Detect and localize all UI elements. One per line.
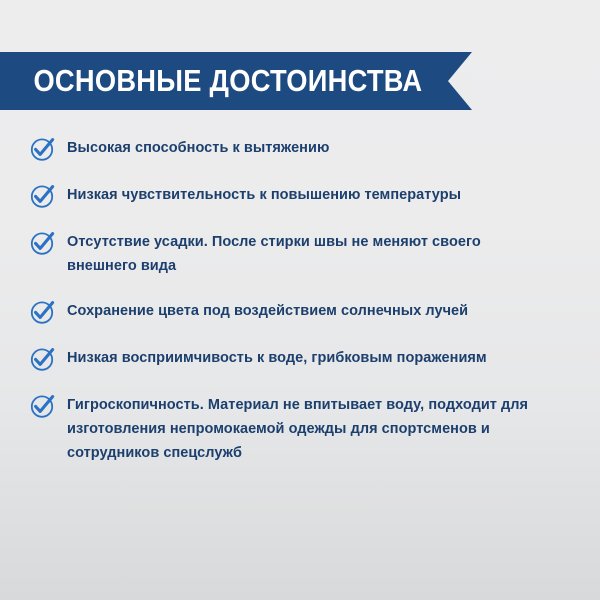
check-circle-icon: [30, 136, 56, 162]
benefits-list: Высокая способность к вытяжению Низкая ч…: [0, 136, 600, 465]
check-circle-icon: [30, 346, 56, 372]
list-item-label: Высокая способность к вытяжению: [67, 136, 329, 160]
check-circle-icon: [30, 230, 56, 256]
list-item-label: Низкая восприимчивость к воде, грибковым…: [67, 346, 487, 370]
list-item-label: Гигроскопичность. Материал не впитывает …: [67, 393, 537, 465]
list-item: Высокая способность к вытяжению: [0, 136, 600, 162]
list-item: Отсутствие усадки. После стирки швы не м…: [0, 230, 600, 278]
page-title: ОСНОВНЫЕ ДОСТОИНСТВА: [0, 52, 422, 110]
list-item: Сохранение цвета под воздействием солнеч…: [0, 299, 600, 325]
list-item: Гигроскопичность. Материал не впитывает …: [0, 393, 600, 465]
list-item-label: Сохранение цвета под воздействием солнеч…: [67, 299, 468, 323]
list-item-label: Низкая чувствительность к повышению темп…: [67, 183, 461, 207]
benefits-poster: ОСНОВНЫЕ ДОСТОИНСТВА Высокая способность…: [0, 0, 600, 600]
header-ribbon: ОСНОВНЫЕ ДОСТОИНСТВА: [0, 52, 472, 110]
check-circle-icon: [30, 299, 56, 325]
ribbon-notch-shape: [448, 52, 472, 110]
check-circle-icon: [30, 393, 56, 419]
list-item: Низкая чувствительность к повышению темп…: [0, 183, 600, 209]
list-item: Низкая восприимчивость к воде, грибковым…: [0, 346, 600, 372]
check-circle-icon: [30, 183, 56, 209]
list-item-label: Отсутствие усадки. После стирки швы не м…: [67, 230, 537, 278]
